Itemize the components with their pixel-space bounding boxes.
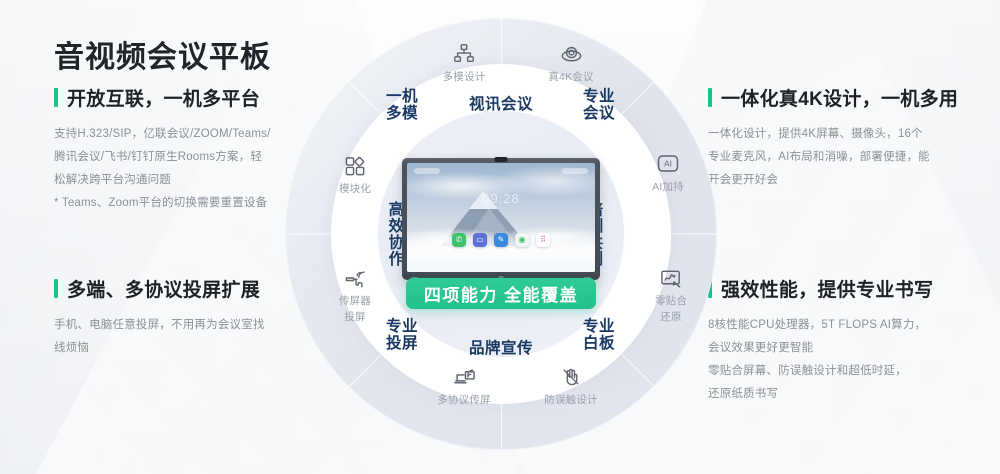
panel-body-line: 专业麦克风，AI布局和消噪，部署便捷，能: [708, 146, 994, 169]
wheel-segment-label-line2: 还原: [660, 311, 681, 324]
app-icon-messages[interactable]: ▭: [473, 233, 487, 247]
wheel-inner-label-professional-meeting[interactable]: 专业会议: [582, 88, 616, 123]
dongle-touch-icon: [340, 264, 370, 292]
panel-heading: 多端、多协议投屏扩展: [67, 275, 260, 302]
screen-clock: 09:28: [407, 191, 595, 206]
network-topology-icon: [449, 40, 479, 68]
wheel-inner-label-video-conference[interactable]: 视讯会议: [437, 96, 565, 113]
wheel-segment-multi-protocol-cast[interactable]: 多协议传屏: [418, 363, 510, 407]
wheel-inner-label-brand-promotion[interactable]: 品牌宣传: [437, 340, 565, 357]
wheel-segment-label: 传屏器: [339, 295, 371, 308]
status-pill-left: [414, 168, 440, 174]
wheel-inner-label-professional-whiteboard[interactable]: 专业白板: [582, 318, 616, 353]
wheel-segment-true-4k[interactable]: 真4K会议: [525, 40, 617, 84]
panel-body-line: 开会更开好会: [708, 169, 994, 192]
panel-heading-row: 一体化真4K设计，一机多用: [708, 84, 994, 111]
pen-writing-icon: [656, 264, 686, 292]
app-icon-docs[interactable]: ✎: [494, 233, 508, 247]
panel-body-line: 还原纸质书写: [708, 383, 994, 406]
app-icon-phone[interactable]: ✆: [452, 233, 466, 247]
wheel-inner-label-one-machine-multimode[interactable]: 一机多模: [385, 88, 419, 123]
wheel-segment-label-line2: 投屏: [344, 311, 365, 324]
wheel-segment-label: 模块化: [339, 183, 371, 196]
app-glyph: ◉: [515, 233, 529, 247]
device-screen[interactable]: 09:28 ✆ ▭ ✎ ◉ ⠿: [407, 163, 595, 272]
wheel-segment-ai-boost[interactable]: AI AI加持: [622, 150, 714, 194]
app-glyph: ✎: [494, 233, 508, 247]
svg-text:AI: AI: [664, 160, 672, 169]
capability-banner-text: 四项能力 全能覆盖: [424, 281, 578, 306]
panel-body-line: 会议效果更好更智能: [708, 337, 994, 360]
wheel-segment-label: 防误触设计: [544, 394, 598, 407]
panel-integrated-4k: 一体化真4K设计，一机多用 一体化设计，提供4K屏幕、摄像头，16个 专业麦克风…: [708, 84, 994, 192]
panel-body: 一体化设计，提供4K屏幕、摄像头，16个 专业麦克风，AI布局和消噪，部署便捷，…: [708, 123, 994, 192]
device-camera-icon: [495, 157, 508, 162]
modular-blocks-icon: [340, 152, 370, 180]
app-glyph: ▭: [473, 233, 487, 247]
panel-body-line: 一体化设计，提供4K屏幕、摄像头，16个: [708, 123, 994, 146]
wheel-segment-label: 零贴合: [655, 295, 687, 308]
panel-body-line: 零贴合屏幕、防误触设计和超低时延，: [708, 360, 994, 383]
camera-lens-icon: [556, 40, 586, 68]
panel-body: 8核性能CPU处理器，5T FLOPS AI算力， 会议效果更好更智能 零贴合屏…: [708, 314, 994, 406]
panel-heading-row: 强效性能，提供专业书写: [708, 275, 994, 302]
wheel-segment-palm-rejection[interactable]: 防误触设计: [525, 363, 617, 407]
conference-tablet-device: 09:28 ✆ ▭ ✎ ◉ ⠿: [402, 158, 600, 280]
infographic-canvas: 音视频会议平板 开放互联，一机多平台 支持H.323/SIP，亿联会议/ZOOM…: [0, 0, 1000, 474]
ai-badge-icon: AI: [653, 150, 683, 178]
wheel-segment-label: 多模设计: [443, 71, 486, 84]
palm-reject-icon: [556, 363, 586, 391]
panel-heading: 强效性能，提供专业书写: [721, 275, 933, 302]
accent-bar-icon: [54, 88, 58, 107]
wheel-segment-zero-bonding[interactable]: 零贴合 还原: [625, 264, 717, 324]
accent-bar-icon: [54, 279, 58, 298]
status-pill-right: [562, 168, 588, 174]
panel-heading: 一体化真4K设计，一机多用: [721, 84, 958, 111]
wheel-segment-multimode-design[interactable]: 多模设计: [418, 40, 510, 84]
wheel-segment-label: 多协议传屏: [437, 394, 491, 407]
wheel-inner-label-professional-casting[interactable]: 专业投屏: [385, 318, 419, 353]
capability-banner: 四项能力 全能覆盖: [406, 278, 596, 309]
wheel-segment-label: 真4K会议: [548, 71, 593, 84]
page-title: 音视频会议平板: [54, 32, 271, 76]
laptop-cast-icon: [449, 363, 479, 391]
panel-heading: 开放互联，一机多平台: [67, 84, 260, 111]
app-icon-camera[interactable]: ◉: [515, 233, 529, 247]
app-glyph: ✆: [452, 233, 466, 247]
device-bezel: 09:28 ✆ ▭ ✎ ◉ ⠿: [402, 158, 600, 280]
wheel-inner-label-efficient-collaboration[interactable]: 高效协作: [386, 173, 403, 295]
wheel-segment-label: AI加持: [652, 181, 684, 194]
app-icon-apps-grid[interactable]: ⠿: [536, 233, 550, 247]
panel-body-line: 8核性能CPU处理器，5T FLOPS AI算力，: [708, 314, 994, 337]
panel-strong-performance: 强效性能，提供专业书写 8核性能CPU处理器，5T FLOPS AI算力， 会议…: [708, 275, 994, 406]
app-dock[interactable]: ✆ ▭ ✎ ◉ ⠿: [407, 233, 595, 247]
app-glyph: ⠿: [536, 233, 550, 247]
